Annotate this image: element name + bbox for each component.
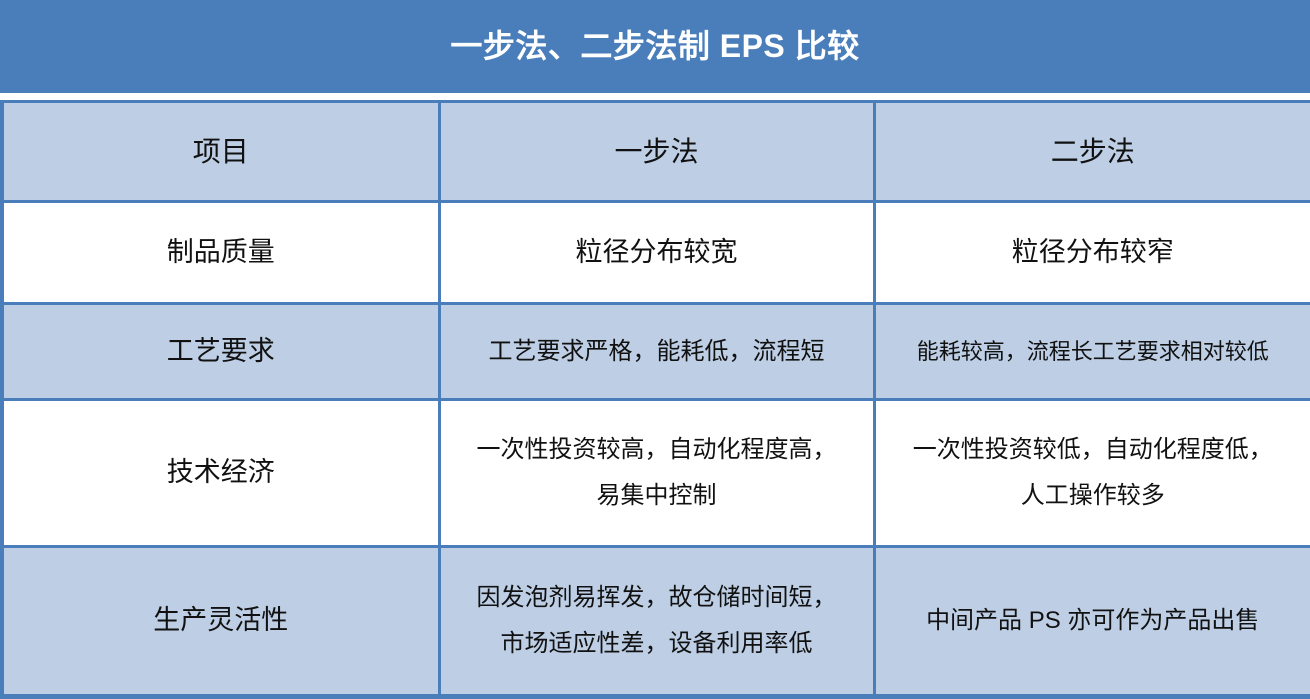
column-header-two-step: 二步法 bbox=[874, 102, 1310, 202]
title-banner: 一步法、二步法制 EPS 比较 bbox=[0, 0, 1310, 93]
row-label-product-quality: 制品质量 bbox=[2, 202, 439, 304]
cell-line: 一次性投资较低，自动化程度低， bbox=[884, 427, 1303, 473]
table-row: 制品质量 粒径分布较宽 粒径分布较窄 bbox=[2, 202, 1310, 304]
cell-line: 市场适应性差，设备利用率低 bbox=[449, 621, 865, 667]
table-row: 技术经济 一次性投资较高，自动化程度高， 易集中控制 一次性投资较低，自动化程度… bbox=[2, 400, 1310, 547]
cell-line: 粒径分布较窄 bbox=[884, 227, 1303, 278]
comparison-table-container: 项目 一步法 二步法 制品质量 粒径分布较宽 粒径分布较窄 bbox=[0, 100, 1310, 695]
row-label-production-flexibility: 生产灵活性 bbox=[2, 547, 439, 697]
cell-one-step-product-quality: 粒径分布较宽 bbox=[439, 202, 874, 304]
table-row: 生产灵活性 因发泡剂易挥发，故仓储时间短， 市场适应性差，设备利用率低 中间产品… bbox=[2, 547, 1310, 697]
page-title: 一步法、二步法制 EPS 比较 bbox=[450, 29, 859, 64]
cell-two-step-process-requirement: 能耗较高，流程长工艺要求相对较低 bbox=[874, 304, 1310, 400]
cell-one-step-process-requirement: 工艺要求严格，能耗低，流程短 bbox=[439, 304, 874, 400]
cell-line: 易集中控制 bbox=[449, 473, 865, 519]
row-label-process-requirement: 工艺要求 bbox=[2, 304, 439, 400]
comparison-table: 项目 一步法 二步法 制品质量 粒径分布较宽 粒径分布较窄 bbox=[0, 100, 1310, 699]
cell-one-step-technical-economy: 一次性投资较高，自动化程度高， 易集中控制 bbox=[439, 400, 874, 547]
document-page: 一步法、二步法制 EPS 比较 项目 一步法 二步法 制品质量 粒径分布较宽 bbox=[0, 0, 1310, 695]
cell-line: 工艺要求严格，能耗低，流程短 bbox=[449, 329, 865, 375]
column-header-item: 项目 bbox=[2, 102, 439, 202]
cell-line: 一次性投资较高，自动化程度高， bbox=[449, 427, 865, 473]
cell-line: 人工操作较多 bbox=[884, 473, 1303, 519]
cell-line: 粒径分布较宽 bbox=[449, 227, 865, 278]
row-label-technical-economy: 技术经济 bbox=[2, 400, 439, 547]
cell-one-step-production-flexibility: 因发泡剂易挥发，故仓储时间短， 市场适应性差，设备利用率低 bbox=[439, 547, 874, 697]
cell-two-step-technical-economy: 一次性投资较低，自动化程度低， 人工操作较多 bbox=[874, 400, 1310, 547]
cell-line: 能耗较高，流程长工艺要求相对较低 bbox=[884, 331, 1303, 373]
column-header-one-step: 一步法 bbox=[439, 102, 874, 202]
cell-line: 因发泡剂易挥发，故仓储时间短， bbox=[449, 575, 865, 621]
cell-two-step-production-flexibility: 中间产品 PS 亦可作为产品出售 bbox=[874, 547, 1310, 697]
cell-two-step-product-quality: 粒径分布较窄 bbox=[874, 202, 1310, 304]
cell-line: 中间产品 PS 亦可作为产品出售 bbox=[884, 598, 1303, 644]
table-row: 工艺要求 工艺要求严格，能耗低，流程短 能耗较高，流程长工艺要求相对较低 bbox=[2, 304, 1310, 400]
table-header-row: 项目 一步法 二步法 bbox=[2, 102, 1310, 202]
